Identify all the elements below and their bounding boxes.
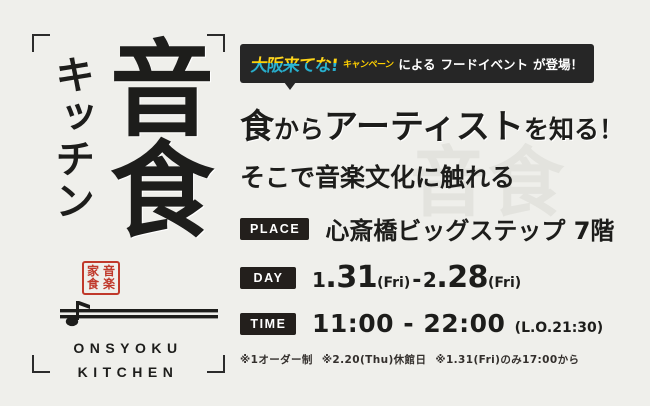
detail-row-time: TIME 11:00 - 22:00 (L.O.21:30) [240, 309, 630, 338]
campaign-banner-body: 大阪来てな! キャンペーン による フードイベント が登場！ [240, 44, 594, 83]
headline-part1: 食 [240, 107, 274, 147]
stamp-char-4: 楽 [101, 278, 117, 291]
campaign-title: 大阪来てな! [250, 51, 339, 76]
headline-part3: アーティスト [324, 107, 524, 147]
logo-romaji: ONSYOKU KITCHEN [32, 336, 224, 384]
chopsticks-music-note-icon [50, 298, 220, 332]
subheadline: そこで音楽文化に触れる [240, 158, 630, 194]
banner-text-suffix: が登場！ [533, 54, 583, 73]
value-day: 1.31(Fri)-2.28(Fri) [312, 260, 521, 295]
campaign-subtitle: キャンペーン [342, 57, 394, 70]
event-details: PLACE 心斎橋ビッグステップ 7階 DAY 1.31(Fri)-2.28(F… [240, 211, 630, 338]
headline: 食からアーティストを知る！ [240, 99, 630, 148]
footnote-3: ※1.31(Fri)のみ17:00から [435, 354, 579, 366]
red-seal-stamp: 家 音 食 楽 [82, 261, 120, 295]
day-end-month: 2 [423, 268, 436, 292]
label-place: PLACE [240, 218, 309, 240]
logo-romaji-line1: ONSYOKU [32, 336, 224, 360]
day-start-weekday: (Fri) [377, 275, 410, 291]
value-place: 心斎橋ビッグステップ 7階 [325, 211, 614, 246]
headline-part2: から [274, 115, 324, 144]
logo-kana-vertical: キッチン [50, 54, 92, 222]
content-column: 大阪来てな! キャンペーン による フードイベント が登場！ 食からアーティスト… [240, 44, 630, 367]
footnotes: ※1オーダー制※2.20(Thu)休館日※1.31(Fri)のみ17:00から [240, 352, 630, 367]
detail-row-day: DAY 1.31(Fri)-2.28(Fri) [240, 260, 630, 295]
headline-part4: を知る！ [524, 115, 624, 144]
label-time: TIME [240, 313, 296, 335]
detail-row-place: PLACE 心斎橋ビッグステップ 7階 [240, 211, 630, 246]
time-range: 11:00 - 22:00 [312, 309, 505, 338]
logo-kanji-group: キッチン 音食 [32, 40, 224, 255]
day-end-weekday: (Fri) [488, 275, 521, 291]
logo-kanji-main: 音食 [110, 40, 224, 242]
brand-logo: キッチン 音食 家 音 食 楽 ONSYOKU KITCHEN [32, 40, 224, 370]
campaign-banner: 大阪来てな! キャンペーン による フードイベント が登場！ [240, 44, 594, 83]
day-start-day: 31 [336, 260, 377, 295]
footnote-2: ※2.20(Thu)休館日 [322, 354, 427, 366]
time-last-order: (L.O.21:30) [515, 320, 604, 336]
stamp-char-3: 食 [85, 278, 101, 291]
logo-romaji-line2: KITCHEN [32, 360, 224, 384]
banner-text-prefix: による [398, 54, 435, 73]
label-day: DAY [240, 267, 296, 289]
footnote-1: ※1オーダー制 [240, 354, 313, 366]
banner-tail [284, 82, 296, 90]
day-start-month: 1 [312, 268, 325, 292]
value-time: 11:00 - 22:00 (L.O.21:30) [312, 309, 603, 338]
event-flyer: 音食 キッチン 音食 家 音 食 楽 ONSYOKU KITCHEN [0, 0, 650, 406]
day-separator: - [410, 268, 423, 293]
day-end-day: 28 [447, 260, 488, 295]
banner-text-emphasis: フードイベント [440, 54, 528, 73]
